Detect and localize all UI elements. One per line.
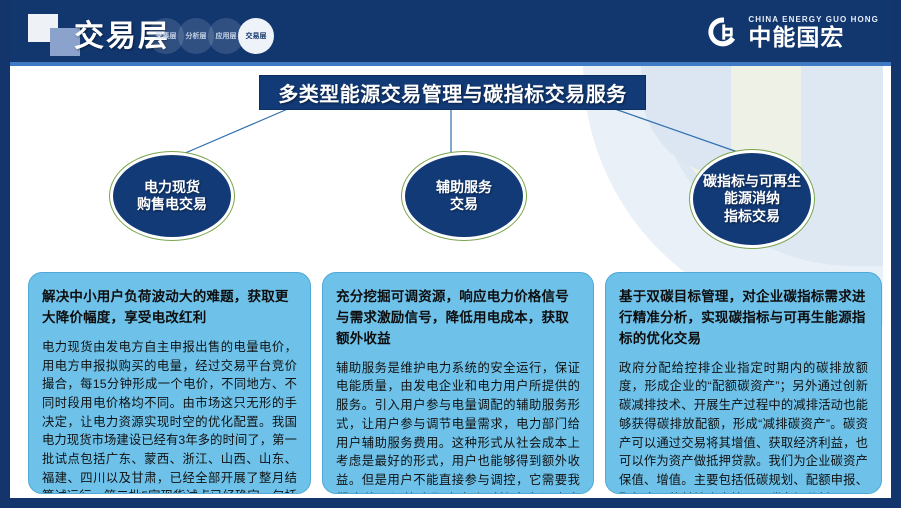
node-spot-power-trading[interactable]: 电力现货购售电交易 [110,152,234,240]
panel-heading: 基于双碳目标管理，对企业碳指标需求进行精准分析，实现碳指标与可再生能源指标的优化… [619,287,868,350]
frame-bottom-edge [0,498,901,508]
layer-chip-trading-active[interactable]: 交易层 [238,18,274,54]
panel-ancillary-service: 充分挖掘可调资源，响应电力价格信号与需求激励信号，降低用电成本，获取额外收益 辅… [322,272,594,494]
company-logo-icon [707,15,741,49]
layer-chip-label: 分析层 [186,31,207,41]
panel-heading: 充分挖掘可调资源，响应电力价格信号与需求激励信号，降低用电成本，获取额外收益 [336,287,580,350]
brand-chinese: 中能国宏 [748,25,879,50]
layer-chip-label: 应用层 [216,31,237,41]
header-bar: 交易层 采集层 分析层 应用层 交易层 C [0,0,901,64]
slide-canvas: 交易层 采集层 分析层 应用层 交易层 C [0,0,901,508]
panel-body: 辅助服务是维护电力系统的安全运行，保证电能质量，由发电企业和电力用户所提供的服务… [336,359,580,494]
node-ancillary-service-trading[interactable]: 辅助服务交易 [402,152,526,240]
brand-logo: CHINA ENERGY GUO HONG 中能国宏 [707,12,879,52]
frame-left-edge [0,0,10,508]
brand-english: CHINA ENERGY GUO HONG [748,15,879,25]
panel-body: 政府分配给控排企业指定时期内的碳排放额度，形成企业的“配额碳资产”；另外通过创新… [619,359,868,494]
node-label: 碳指标与可再生能源消纳指标交易 [703,173,801,226]
node-carbon-index-trading[interactable]: 碳指标与可再生能源消纳指标交易 [690,150,814,248]
node-label: 辅助服务交易 [436,179,492,214]
panel-heading: 解决中小用户负荷波动大的难题，获取更大降价幅度，享受电改红利 [42,287,297,329]
main-title-box: 多类型能源交易管理与碳指标交易服务 [259,75,646,110]
layer-chip-label: 采集层 [156,31,177,41]
node-label: 电力现货购售电交易 [137,179,207,214]
panel-spot-power: 解决中小用户负荷波动大的难题，获取更大降价幅度，享受电改红利 电力现货由发电方自… [28,272,311,494]
header-accent-line [0,62,901,66]
panel-carbon-index: 基于双碳目标管理，对企业碳指标需求进行精准分析，实现碳指标与可再生能源指标的优化… [605,272,882,494]
layer-chip-label: 交易层 [246,31,267,41]
frame-right-edge [891,0,901,508]
panel-body: 电力现货由发电方自主申报出售的电量电价，用电方申报拟购买的电量，经过交易平台竞价… [42,338,297,494]
